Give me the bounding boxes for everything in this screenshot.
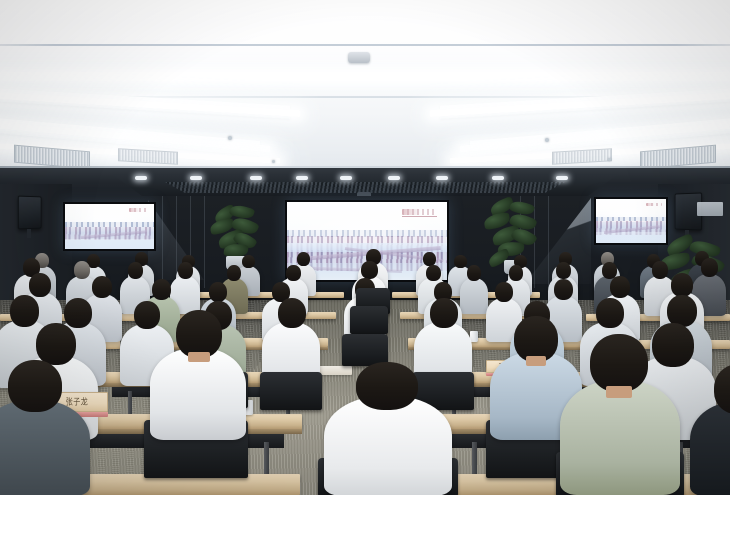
ceiling-air-vent-left-inner	[118, 148, 178, 165]
attendee-r5-1	[150, 348, 246, 440]
soffit-downlight-3	[250, 176, 262, 180]
ceiling-fixture-dot-3	[272, 160, 275, 163]
soffit-downlight-2	[190, 176, 202, 180]
booklet-r4	[318, 366, 352, 375]
soffit-downlight-4	[296, 176, 308, 180]
soffit-downlight-5	[340, 176, 352, 180]
plant-left-of-screen	[210, 206, 262, 266]
ceiling-fixture-dot-1	[228, 136, 232, 140]
side-display-right	[594, 197, 668, 245]
soffit-downlight-9	[556, 176, 568, 180]
ceiling-light-strip-1	[0, 72, 730, 81]
attendee-r6-4	[690, 402, 730, 495]
smoke-detector-icon	[348, 52, 370, 63]
soffit-downlight-7	[436, 176, 448, 180]
ceiling-air-vent-right-inner	[552, 148, 612, 165]
ceiling	[0, 0, 730, 182]
wall-plaque	[697, 202, 723, 216]
ceiling-fixture-dot-2	[545, 138, 549, 142]
plant-right-of-screen	[484, 200, 540, 272]
attendee-r2-4	[460, 278, 488, 314]
screenshot-root: 王丽	[0, 0, 730, 548]
display-watermark-left	[129, 208, 149, 212]
display-watermark-main	[402, 209, 437, 215]
soffit-downlight-6	[388, 176, 400, 180]
ceiling-fixture-dot-4	[608, 158, 611, 161]
side-display-left	[63, 202, 156, 251]
display-watermark-right	[646, 203, 661, 207]
soffit-downlight-1	[135, 176, 147, 180]
display-watermark-underline	[402, 216, 437, 217]
attendee-r6-1	[560, 380, 680, 495]
chair-r4-2	[260, 372, 322, 410]
photo-bottom-margin	[0, 495, 730, 548]
attendee-r6-2	[324, 396, 452, 495]
soffit-downlight-8	[492, 176, 504, 180]
conference-room-photo: 王丽	[0, 0, 730, 495]
attendee-r6-3	[0, 400, 90, 495]
loudspeaker-left	[18, 196, 42, 230]
chair-r2-1	[350, 306, 388, 334]
